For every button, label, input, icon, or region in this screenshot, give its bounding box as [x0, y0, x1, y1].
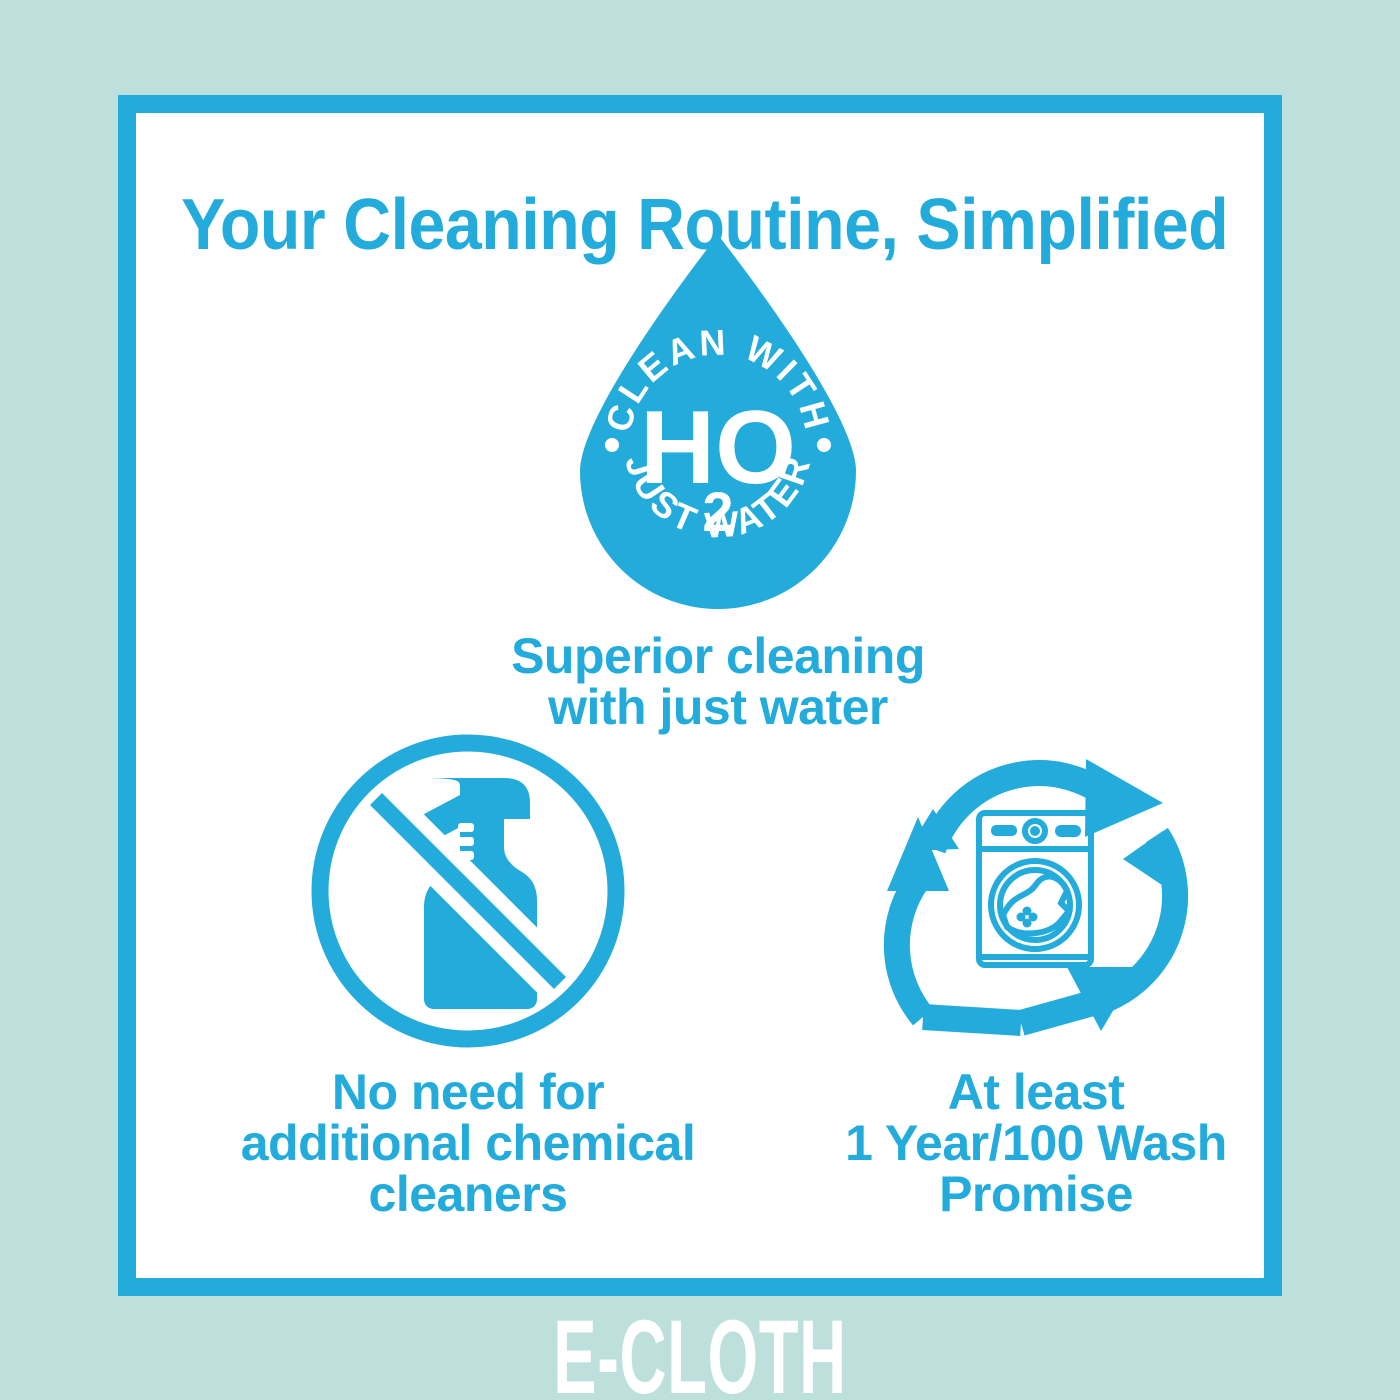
- infographic-canvas: Your Cleaning Routine, Simplified CLEAN …: [0, 0, 1400, 1400]
- washing-machine-outline: [979, 813, 1091, 965]
- brand-logo: E-CLOTH: [266, 1305, 1134, 1400]
- feature-wash-promise: At least 1 Year/100 Wash Promise: [736, 731, 1336, 1220]
- wash-cycle-washing-machine-icon: [871, 731, 1201, 1051]
- no-spray-bottle-icon: [308, 731, 628, 1051]
- content-card: Your Cleaning Routine, Simplified CLEAN …: [118, 95, 1282, 1296]
- badge-formula-subscript: 2: [702, 480, 733, 543]
- feature-caption-wash-promise: At least 1 Year/100 Wash Promise: [736, 1067, 1336, 1220]
- water-droplet-h2o-badge-icon: CLEAN WITH JUST WATER HO 2: [568, 231, 868, 621]
- feature-superior-cleaning: CLEAN WITH JUST WATER HO 2 Superior clea…: [368, 231, 1068, 733]
- badge-dot-right: [817, 438, 831, 452]
- badge-dot-left: [605, 438, 619, 452]
- cycle-arrow-top: [907, 759, 1163, 851]
- feature-caption-superior-cleaning: Superior cleaning with just water: [368, 631, 1068, 733]
- cycle-arc-bottom-left: [923, 1017, 1021, 1023]
- feature-no-chemicals: No need for additional chemical cleaners: [168, 731, 768, 1220]
- laundry-flower-detail: [1017, 907, 1038, 928]
- feature-caption-no-chemicals: No need for additional chemical cleaners: [168, 1067, 768, 1220]
